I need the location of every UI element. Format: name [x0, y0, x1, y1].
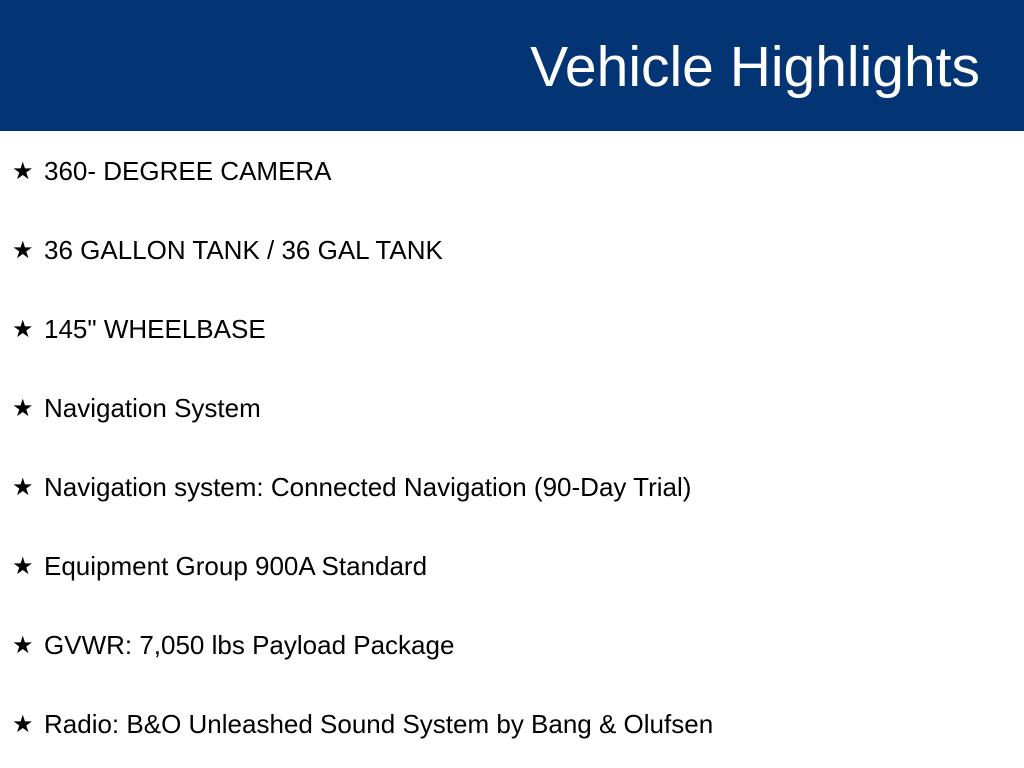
page-title: Vehicle Highlights [530, 38, 980, 98]
star-bullet-icon: ★ [12, 554, 34, 578]
list-item: ★ 360- DEGREE CAMERA [12, 155, 332, 189]
header-banner: Vehicle Highlights [0, 0, 1024, 131]
star-bullet-icon: ★ [12, 633, 34, 657]
star-bullet-icon: ★ [12, 238, 34, 262]
list-item-label: Navigation System [34, 394, 261, 424]
list-item: ★ Radio: B&O Unleashed Sound System by B… [12, 708, 713, 742]
list-item-label: Radio: B&O Unleashed Sound System by Ban… [34, 710, 713, 740]
list-item: ★ 145" WHEELBASE [12, 313, 266, 347]
list-item: ★ GVWR: 7,050 lbs Payload Package [12, 629, 454, 663]
list-item-label: 145" WHEELBASE [34, 315, 266, 345]
list-item-label: Equipment Group 900A Standard [34, 552, 427, 582]
list-item-label: 36 GALLON TANK / 36 GAL TANK [34, 236, 443, 266]
highlights-list: ★ 360- DEGREE CAMERA ★ 36 GALLON TANK / … [0, 131, 1024, 768]
star-bullet-icon: ★ [12, 159, 34, 183]
vehicle-highlights-slide: Vehicle Highlights ★ 360- DEGREE CAMERA … [0, 0, 1024, 768]
list-item: ★ Equipment Group 900A Standard [12, 550, 427, 584]
star-bullet-icon: ★ [12, 317, 34, 341]
list-item-label: Navigation system: Connected Navigation … [34, 473, 691, 503]
list-item: ★ Navigation system: Connected Navigatio… [12, 471, 691, 505]
star-bullet-icon: ★ [12, 475, 34, 499]
star-bullet-icon: ★ [12, 396, 34, 420]
list-item-label: 360- DEGREE CAMERA [34, 157, 332, 187]
list-item: ★ Navigation System [12, 392, 261, 426]
list-item: ★ 36 GALLON TANK / 36 GAL TANK [12, 234, 443, 268]
star-bullet-icon: ★ [12, 712, 34, 736]
list-item-label: GVWR: 7,050 lbs Payload Package [34, 631, 454, 661]
